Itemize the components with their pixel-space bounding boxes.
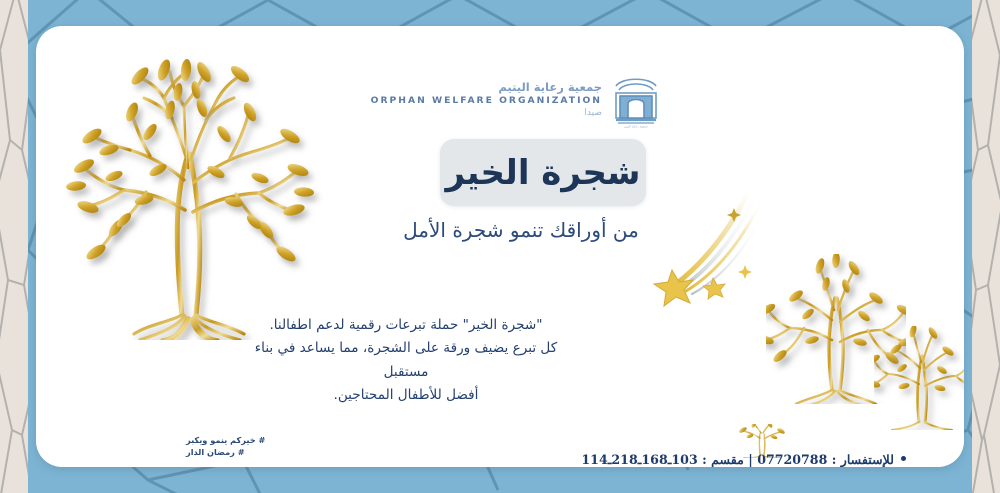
hashtag-2: # رمضان الدار (186, 446, 308, 458)
golden-tree-icon (874, 326, 964, 430)
arched-building-icon: جمعية رعاية اليتيم (610, 72, 662, 128)
bullet-icon (901, 456, 906, 461)
contact-inquiry[interactable]: للإستفسار : 07720788 | مقسم : 103ـ168ـ21… (581, 450, 894, 467)
content-card: جمعية رعاية اليتيم ORPHAN WELFARE ORGANI… (36, 26, 964, 467)
logo-english-name: ORPHAN WELFARE ORGANIZATION (371, 96, 602, 107)
shooting-star-icon (650, 178, 770, 313)
right-edge-strip (972, 0, 1000, 493)
subtitle: من أوراقك تنمو شجرة الأمل (376, 218, 666, 242)
page-title: شجرة الخير (446, 156, 641, 190)
hashtag-block: # خيركم ينمو ويكبر # رمضان الدار (186, 434, 308, 459)
edge-line-pattern-icon (0, 0, 28, 493)
logo-arabic-name: جمعية رعاية اليتيم (371, 81, 602, 95)
organization-logo: جمعية رعاية اليتيم ORPHAN WELFARE ORGANI… (440, 70, 662, 130)
hashtag-1: # خيركم ينمو ويكبر (186, 434, 308, 446)
svg-text:جمعية رعاية اليتيم: جمعية رعاية اليتيم (624, 124, 648, 128)
body-copy: "شجرة الخير" حملة تبرعات رقمية لدعم اطفا… (236, 314, 576, 408)
logo-text-block: جمعية رعاية اليتيم ORPHAN WELFARE ORGANI… (371, 81, 602, 118)
body-line-3: أفضل للأطفال المحتاجين. (236, 384, 576, 407)
body-line-1: "شجرة الخير" حملة تبرعات رقمية لدعم اطفا… (236, 314, 576, 337)
logo-city: صيدا (371, 108, 602, 119)
contact-row: للإستفسار : 07720788 | مقسم : 103ـ168ـ21… (516, 450, 906, 467)
left-edge-strip (0, 0, 28, 493)
body-line-2: كل تبرع يضيف ورقة على الشجرة، مما يساعد … (236, 337, 576, 384)
poster-root: جمعية رعاية اليتيم ORPHAN WELFARE ORGANI… (0, 0, 1000, 493)
edge-line-pattern-icon (972, 0, 1000, 493)
contact-block: للإستفسار : 07720788 | مقسم : 103ـ168ـ21… (516, 450, 906, 467)
golden-tree-icon (54, 50, 324, 340)
page-title-chip: شجرة الخير (440, 139, 646, 206)
